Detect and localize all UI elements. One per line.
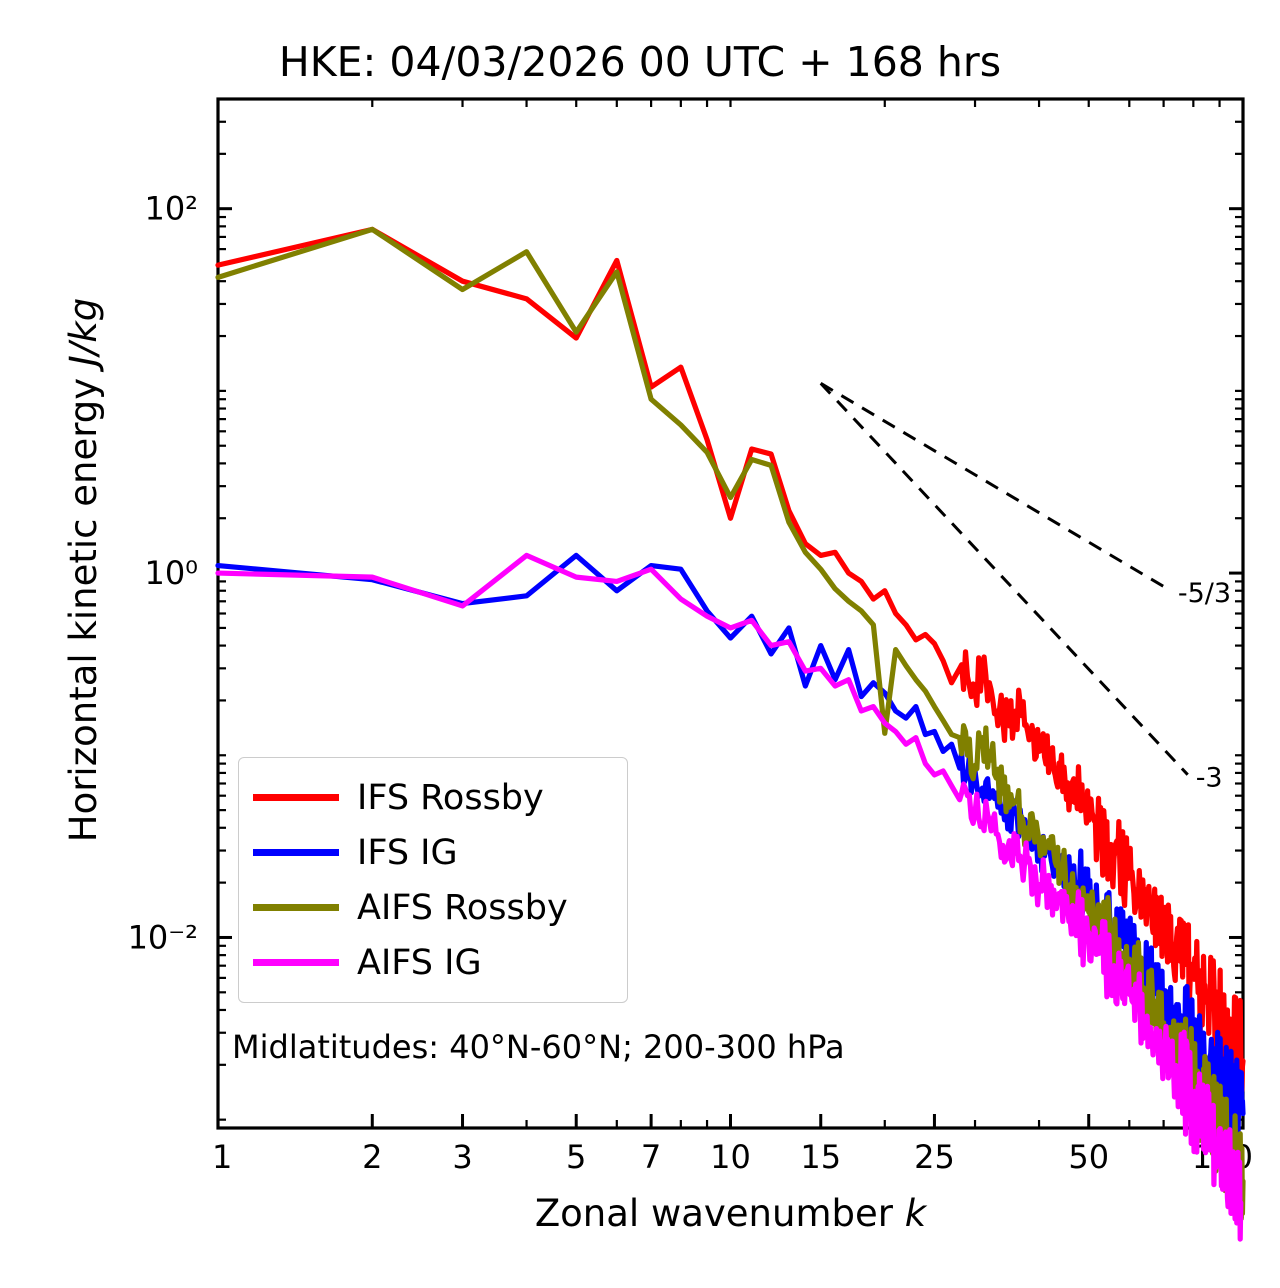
legend-swatch-aifs-ig xyxy=(253,959,339,966)
legend-label-aifs-ig: AIFS IG xyxy=(357,943,482,983)
legend-item[interactable]: IFS Rossby xyxy=(253,770,613,825)
legend-swatch-ifs-rossby xyxy=(253,794,339,801)
y-tick-label: 10² xyxy=(144,190,198,228)
legend-swatch-ifs-ig xyxy=(253,849,339,856)
y-tick-label: 10⁰ xyxy=(144,554,198,592)
slope-label: -5/3 xyxy=(1178,578,1231,609)
x-tick-label: 15 xyxy=(800,1138,841,1176)
x-tick-label: 2 xyxy=(362,1138,382,1176)
x-tick-label: 50 xyxy=(1068,1138,1109,1176)
legend-item[interactable]: IFS IG xyxy=(253,825,613,880)
legend-label-ifs-rossby: IFS Rossby xyxy=(357,778,544,818)
x-tick-label: 7 xyxy=(641,1138,661,1176)
x-tick-label: 10 xyxy=(710,1138,751,1176)
slope-line xyxy=(821,383,1170,590)
legend-label-ifs-ig: IFS IG xyxy=(357,833,458,873)
legend-label-aifs-rossby: AIFS Rossby xyxy=(357,888,568,928)
region-annotation-text: Midlatitudes: 40°N-60°N; 200-300 hPa xyxy=(232,1028,845,1066)
plot-canvas: 10²10⁰10⁻²1235710152550100 -5/3-3 Midlat… xyxy=(0,0,1280,1288)
data-series-group xyxy=(218,229,1243,1239)
chart-figure: HKE: 04/03/2026 00 UTC + 168 hrs Horizon… xyxy=(0,0,1280,1288)
x-tick-label: 1 xyxy=(212,1138,232,1176)
x-tick-label: 5 xyxy=(566,1138,586,1176)
legend-swatch-aifs-rossby xyxy=(253,904,339,911)
y-tick-label: 10⁻² xyxy=(128,918,198,956)
chart-legend[interactable]: IFS Rossby IFS IG AIFS Rossby AIFS IG xyxy=(238,757,628,1003)
legend-item[interactable]: AIFS IG xyxy=(253,935,613,990)
legend-item[interactable]: AIFS Rossby xyxy=(253,880,613,935)
series-line-aifs-rossby xyxy=(218,229,1243,1223)
slope-label: -3 xyxy=(1196,763,1223,794)
x-tick-label: 3 xyxy=(452,1138,472,1176)
x-tick-label: 25 xyxy=(914,1138,955,1176)
region-annotation: Midlatitudes: 40°N-60°N; 200-300 hPa xyxy=(232,1028,845,1066)
